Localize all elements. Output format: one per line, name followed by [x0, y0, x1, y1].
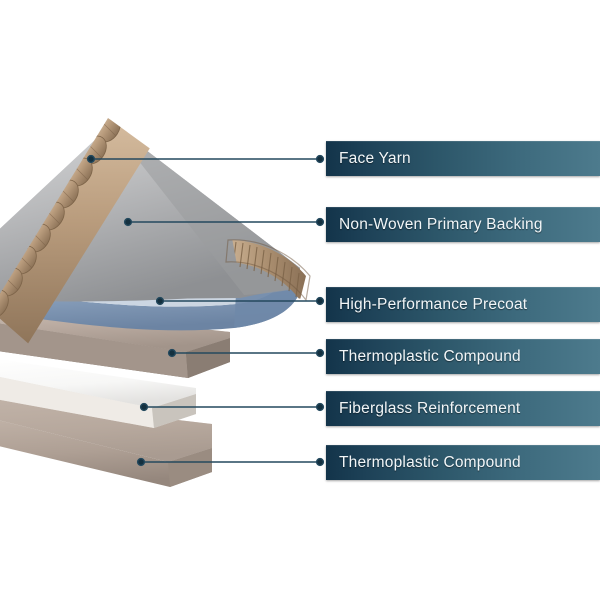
label-text-thermoplastic-compound-upper: Thermoplastic Compound [326, 348, 521, 366]
diagram-canvas: Face Yarn Non-Woven Primary Backing High… [0, 0, 600, 600]
label-bar-thermoplastic-compound-upper[interactable]: Thermoplastic Compound [326, 339, 600, 374]
label-bar-thermoplastic-compound-lower[interactable]: Thermoplastic Compound [326, 445, 600, 480]
label-bar-fiberglass-reinforcement[interactable]: Fiberglass Reinforcement [326, 391, 600, 426]
label-text-thermoplastic-compound-lower: Thermoplastic Compound [326, 454, 521, 472]
label-text-high-performance-precoat: High-Performance Precoat [326, 296, 527, 314]
label-bar-high-performance-precoat[interactable]: High-Performance Precoat [326, 287, 600, 322]
label-text-non-woven-primary-backing: Non-Woven Primary Backing [326, 216, 543, 234]
label-bar-face-yarn[interactable]: Face Yarn [326, 141, 600, 176]
label-bar-non-woven-primary-backing[interactable]: Non-Woven Primary Backing [326, 207, 600, 242]
label-text-face-yarn: Face Yarn [326, 150, 411, 168]
label-text-fiberglass-reinforcement: Fiberglass Reinforcement [326, 400, 520, 418]
